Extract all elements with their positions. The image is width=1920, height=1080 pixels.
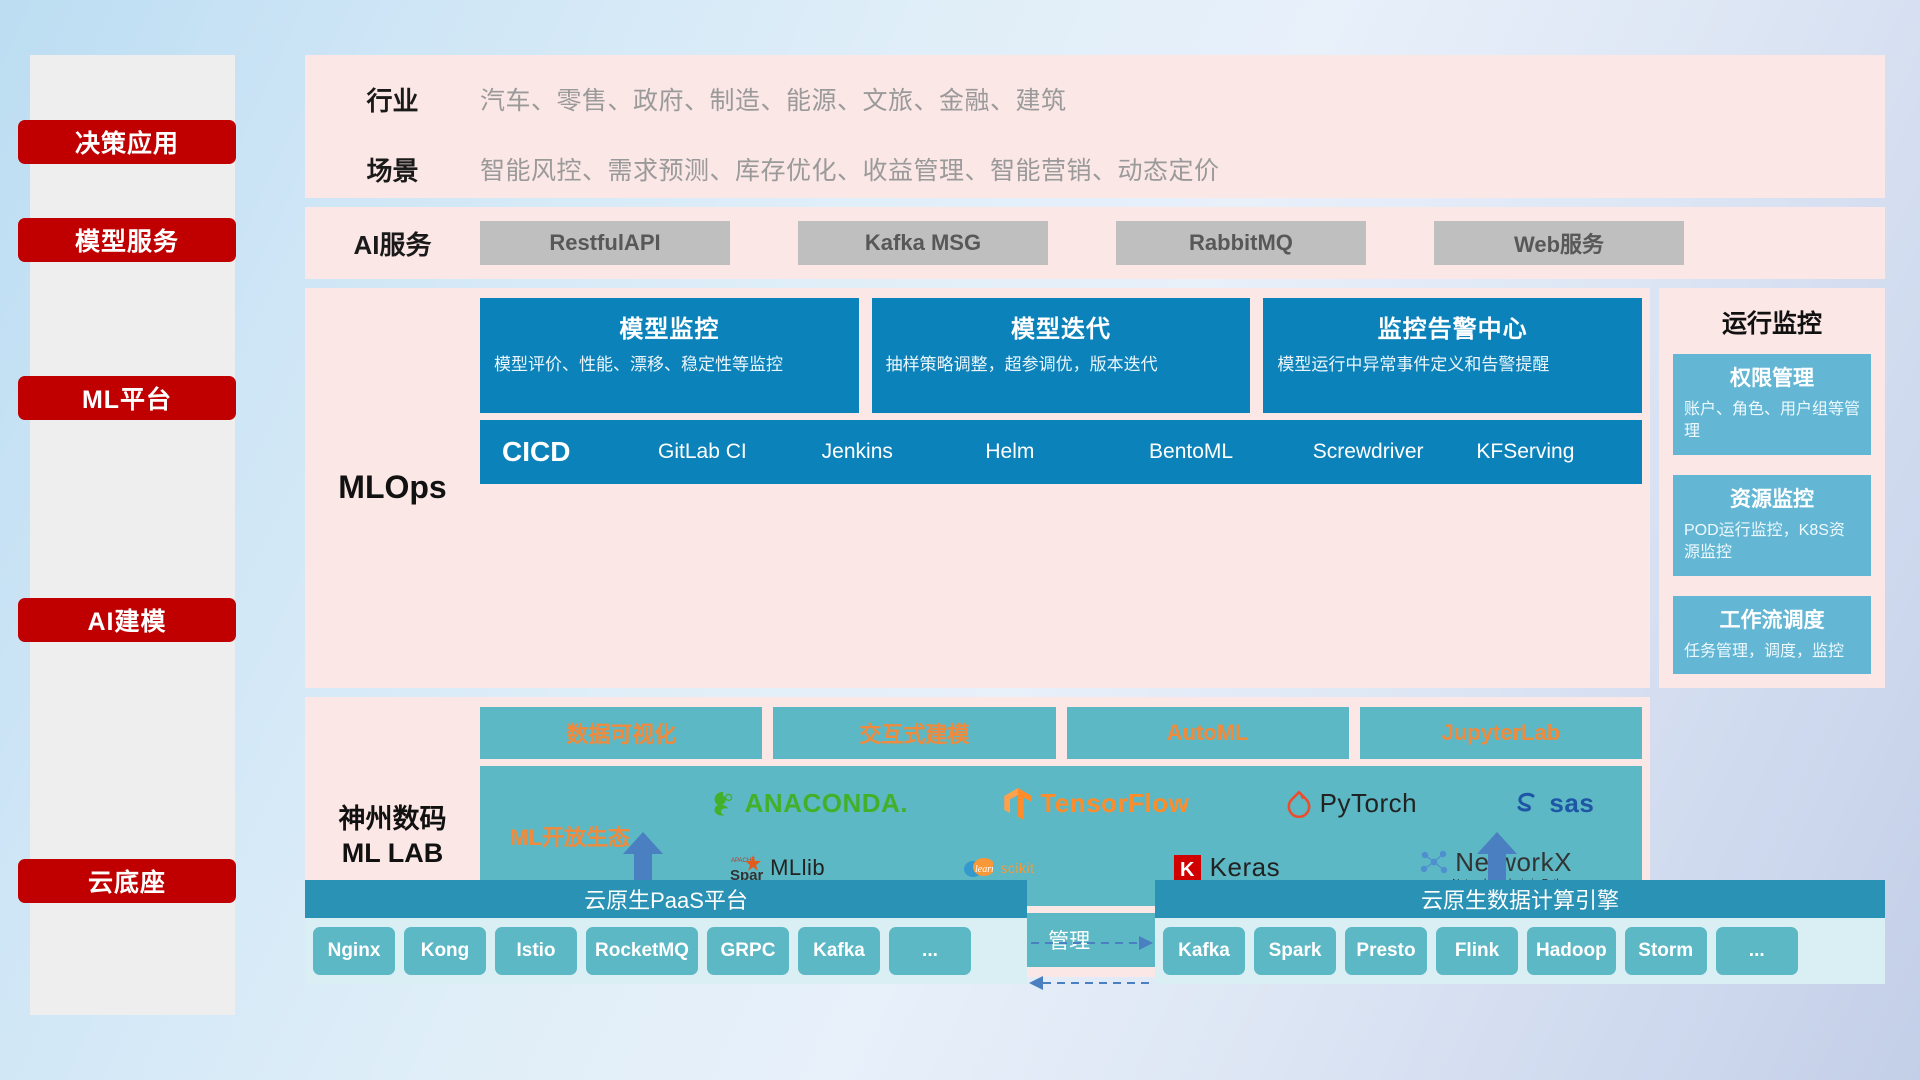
- pytorch-logo: PyTorch: [1285, 788, 1417, 819]
- card-desc: 账户、角色、用户组等管理: [1684, 399, 1860, 444]
- cicd-item-helm[interactable]: Helm: [979, 440, 1143, 463]
- industry-label: 行业: [305, 81, 480, 118]
- engine-chip-hadoop[interactable]: Hadoop: [1527, 927, 1616, 975]
- band-ai-service: AI服务 RestfulAPI Kafka MSG RabbitMQ Web服务: [305, 207, 1885, 279]
- chip-label: RabbitMQ: [1189, 230, 1293, 256]
- lab-tool-data-visualization[interactable]: 数据可视化: [480, 707, 762, 759]
- anaconda-icon: [708, 789, 738, 819]
- keras-label: Keras: [1210, 852, 1280, 883]
- rail-chip-model-service[interactable]: 模型服务: [18, 218, 236, 262]
- tensorflow-label: TensorFlow: [1040, 788, 1189, 819]
- monitor-card-workflow[interactable]: 工作流调度 任务管理，调度，监控: [1673, 596, 1871, 674]
- cicd-title: CICD: [502, 436, 652, 468]
- svg-text:learn: learn: [975, 864, 993, 875]
- svg-text:K: K: [1180, 859, 1195, 881]
- cicd-item-screwdriver[interactable]: Screwdriver: [1307, 440, 1471, 463]
- rail-chip-label: AI建模: [87, 602, 166, 638]
- ecosystem-logo-row-1: ANACONDA. TensorFlow: [660, 773, 1642, 835]
- monitor-card-permission[interactable]: 权限管理 账户、角色、用户组等管理: [1673, 354, 1871, 455]
- ml-lab-label-line2: ML LAB: [305, 837, 480, 871]
- mlops-body: 模型监控 模型评价、性能、漂移、稳定性等监控 模型迭代 抽样策略调整，超参调优，…: [480, 298, 1650, 678]
- paas-chip-istio[interactable]: Istio: [495, 927, 577, 975]
- lab-tool-interactive-modeling[interactable]: 交互式建模: [773, 707, 1055, 759]
- sas-icon: [1512, 789, 1542, 819]
- paas-chip-grpc[interactable]: GRPC: [707, 927, 789, 975]
- spark-mllib-logo: APACHE Spark MLlib: [729, 853, 825, 883]
- monitor-card-resource[interactable]: 资源监控 POD运行监控，K8S资源监控: [1673, 475, 1871, 576]
- paas-title: 云原生PaaS平台: [305, 880, 1027, 918]
- card-desc: POD运行监控，K8S资源监控: [1684, 520, 1860, 565]
- cicd-item-gitlab-ci[interactable]: GitLab CI: [652, 440, 816, 463]
- engine-chip-flink[interactable]: Flink: [1436, 927, 1518, 975]
- card-title: 资源监控: [1684, 483, 1860, 513]
- scenario-row: 场景 智能风控、需求预测、库存优化、收益管理、智能营销、动态定价: [305, 143, 1885, 195]
- pytorch-icon: [1285, 789, 1313, 819]
- card-desc: 模型运行中异常事件定义和告警提醒: [1277, 353, 1628, 377]
- paas-chip-kong[interactable]: Kong: [404, 927, 486, 975]
- pytorch-label: PyTorch: [1320, 788, 1417, 819]
- service-chip-kafka-msg[interactable]: Kafka MSG: [798, 221, 1048, 265]
- service-chip-web-service[interactable]: Web服务: [1434, 221, 1684, 265]
- up-arrow-icon-paas: [621, 832, 665, 880]
- bidirectional-link: [1027, 927, 1155, 999]
- engine-chip-kafka[interactable]: Kafka: [1163, 927, 1245, 975]
- sas-label: sas: [1549, 788, 1594, 819]
- card-desc: 抽样策略调整，超参调优，版本迭代: [886, 353, 1237, 377]
- engine-chip-presto[interactable]: Presto: [1345, 927, 1427, 975]
- band-decision-apps: 行业 汽车、零售、政府、制造、能源、文旅、金融、建筑 场景 智能风控、需求预测、…: [305, 55, 1885, 198]
- lab-tool-jupyterlab[interactable]: JupyterLab: [1360, 707, 1642, 759]
- scikit-label: scikit: [1000, 860, 1034, 876]
- paas-block: 云原生PaaS平台 Nginx Kong Istio RocketMQ GRPC…: [305, 880, 1027, 984]
- rail-chip-label: 云底座: [88, 863, 166, 899]
- cicd-bar: CICD GitLab CI Jenkins Helm BentoML Scre…: [480, 420, 1642, 484]
- rail-chip-cloud-base[interactable]: 云底座: [18, 859, 236, 903]
- ai-service-label: AI服务: [305, 225, 480, 262]
- paas-chip-nginx[interactable]: Nginx: [313, 927, 395, 975]
- column-runtime-monitor: 运行监控 权限管理 账户、角色、用户组等管理 资源监控 POD运行监控，K8S资…: [1659, 288, 1885, 688]
- anaconda-logo: ANACONDA.: [708, 788, 908, 819]
- mlops-card-model-iteration[interactable]: 模型迭代 抽样策略调整，超参调优，版本迭代: [872, 298, 1251, 413]
- spark-icon: APACHE Spark: [729, 853, 763, 883]
- industry-row: 行业 汽车、零售、政府、制造、能源、文旅、金融、建筑: [305, 73, 1885, 125]
- scenario-values: 智能风控、需求预测、库存优化、收益管理、智能营销、动态定价: [480, 151, 1220, 187]
- engine-block: 云原生数据计算引擎 Kafka Spark Presto Flink Hadoo…: [1155, 880, 1885, 984]
- mlops-card-model-monitoring[interactable]: 模型监控 模型评价、性能、漂移、稳定性等监控: [480, 298, 859, 413]
- anaconda-label: ANACONDA.: [745, 788, 908, 819]
- keras-logo: K Keras: [1173, 852, 1280, 883]
- rail-chip-ml-platform[interactable]: ML平台: [18, 376, 236, 420]
- chip-label: RestfulAPI: [549, 230, 660, 256]
- rail-chip-label: 决策应用: [75, 124, 179, 160]
- up-arrow-icon-engine: [1475, 832, 1519, 880]
- paas-chip-list: Nginx Kong Istio RocketMQ GRPC Kafka ...: [305, 918, 1027, 984]
- service-chip-rabbitmq[interactable]: RabbitMQ: [1116, 221, 1366, 265]
- mllib-label: MLlib: [770, 855, 825, 881]
- cloud-foundation-zone: 云原生PaaS平台 Nginx Kong Istio RocketMQ GRPC…: [305, 880, 1885, 1045]
- paas-chip-rocketmq[interactable]: RocketMQ: [586, 927, 698, 975]
- architecture-stack: 行业 汽车、零售、政府、制造、能源、文旅、金融、建筑 场景 智能风控、需求预测、…: [305, 55, 1885, 977]
- band-mlops: MLOps 模型监控 模型评价、性能、漂移、稳定性等监控 模型迭代 抽样策略调整…: [305, 288, 1650, 688]
- rail-chip-ai-modeling[interactable]: AI建模: [18, 598, 236, 642]
- ai-service-chip-list: RestfulAPI Kafka MSG RabbitMQ Web服务: [480, 221, 1684, 265]
- engine-chip-storm[interactable]: Storm: [1625, 927, 1707, 975]
- mlops-card-list: 模型监控 模型评价、性能、漂移、稳定性等监控 模型迭代 抽样策略调整，超参调优，…: [480, 298, 1642, 413]
- card-title: 模型迭代: [886, 309, 1237, 344]
- monitor-column-title: 运行监控: [1673, 304, 1871, 340]
- card-title: 监控告警中心: [1277, 309, 1628, 344]
- card-title: 权限管理: [1684, 362, 1860, 392]
- scikit-learn-icon: learn: [963, 854, 993, 882]
- cicd-item-list: GitLab CI Jenkins Helm BentoML Screwdriv…: [652, 440, 1634, 463]
- card-title: 工作流调度: [1684, 604, 1860, 634]
- chip-label: Web服务: [1514, 227, 1604, 259]
- mlops-card-alert-center[interactable]: 监控告警中心 模型运行中异常事件定义和告警提醒: [1263, 298, 1642, 413]
- lab-tool-automl[interactable]: AutoML: [1067, 707, 1349, 759]
- card-desc: 模型评价、性能、漂移、稳定性等监控: [494, 353, 845, 377]
- networkx-icon: [1419, 848, 1449, 876]
- tensorflow-icon: [1003, 788, 1033, 820]
- rail-chip-label: ML平台: [82, 380, 172, 416]
- engine-chip-list: Kafka Spark Presto Flink Hadoop Storm ..…: [1155, 918, 1885, 984]
- ml-lab-label: 神州数码 ML LAB: [305, 803, 480, 871]
- engine-chip-more[interactable]: ...: [1716, 927, 1798, 975]
- paas-chip-more[interactable]: ...: [889, 927, 971, 975]
- industry-values: 汽车、零售、政府、制造、能源、文旅、金融、建筑: [480, 81, 1067, 117]
- chip-label: Kafka MSG: [865, 230, 981, 256]
- mlops-label: MLOps: [305, 298, 480, 678]
- card-desc: 任务管理，调度，监控: [1684, 641, 1860, 663]
- engine-chip-spark[interactable]: Spark: [1254, 927, 1336, 975]
- scenario-label: 场景: [305, 151, 480, 188]
- scikit-learn-logo: learn scikit: [963, 854, 1034, 882]
- service-chip-restfulapi[interactable]: RestfulAPI: [480, 221, 730, 265]
- tensorflow-logo: TensorFlow: [1003, 788, 1189, 820]
- rail-chip-label: 模型服务: [75, 222, 179, 258]
- row-mlops: MLOps 模型监控 模型评价、性能、漂移、稳定性等监控 模型迭代 抽样策略调整…: [305, 288, 1885, 688]
- sas-logo: sas: [1512, 788, 1594, 819]
- dashed-arrows-icon: [1027, 927, 1155, 999]
- ml-lab-tool-list: 数据可视化 交互式建模 AutoML JupyterLab: [480, 707, 1642, 759]
- cicd-item-bentoml[interactable]: BentoML: [1143, 440, 1307, 463]
- card-title: 模型监控: [494, 309, 845, 344]
- ml-lab-label-line1: 神州数码: [305, 803, 480, 837]
- engine-title: 云原生数据计算引擎: [1155, 880, 1885, 918]
- cicd-item-kfserving[interactable]: KFServing: [1470, 440, 1634, 463]
- keras-icon: K: [1173, 853, 1203, 883]
- rail-chip-decision-apps[interactable]: 决策应用: [18, 120, 236, 164]
- cicd-item-jenkins[interactable]: Jenkins: [816, 440, 980, 463]
- paas-chip-kafka[interactable]: Kafka: [798, 927, 880, 975]
